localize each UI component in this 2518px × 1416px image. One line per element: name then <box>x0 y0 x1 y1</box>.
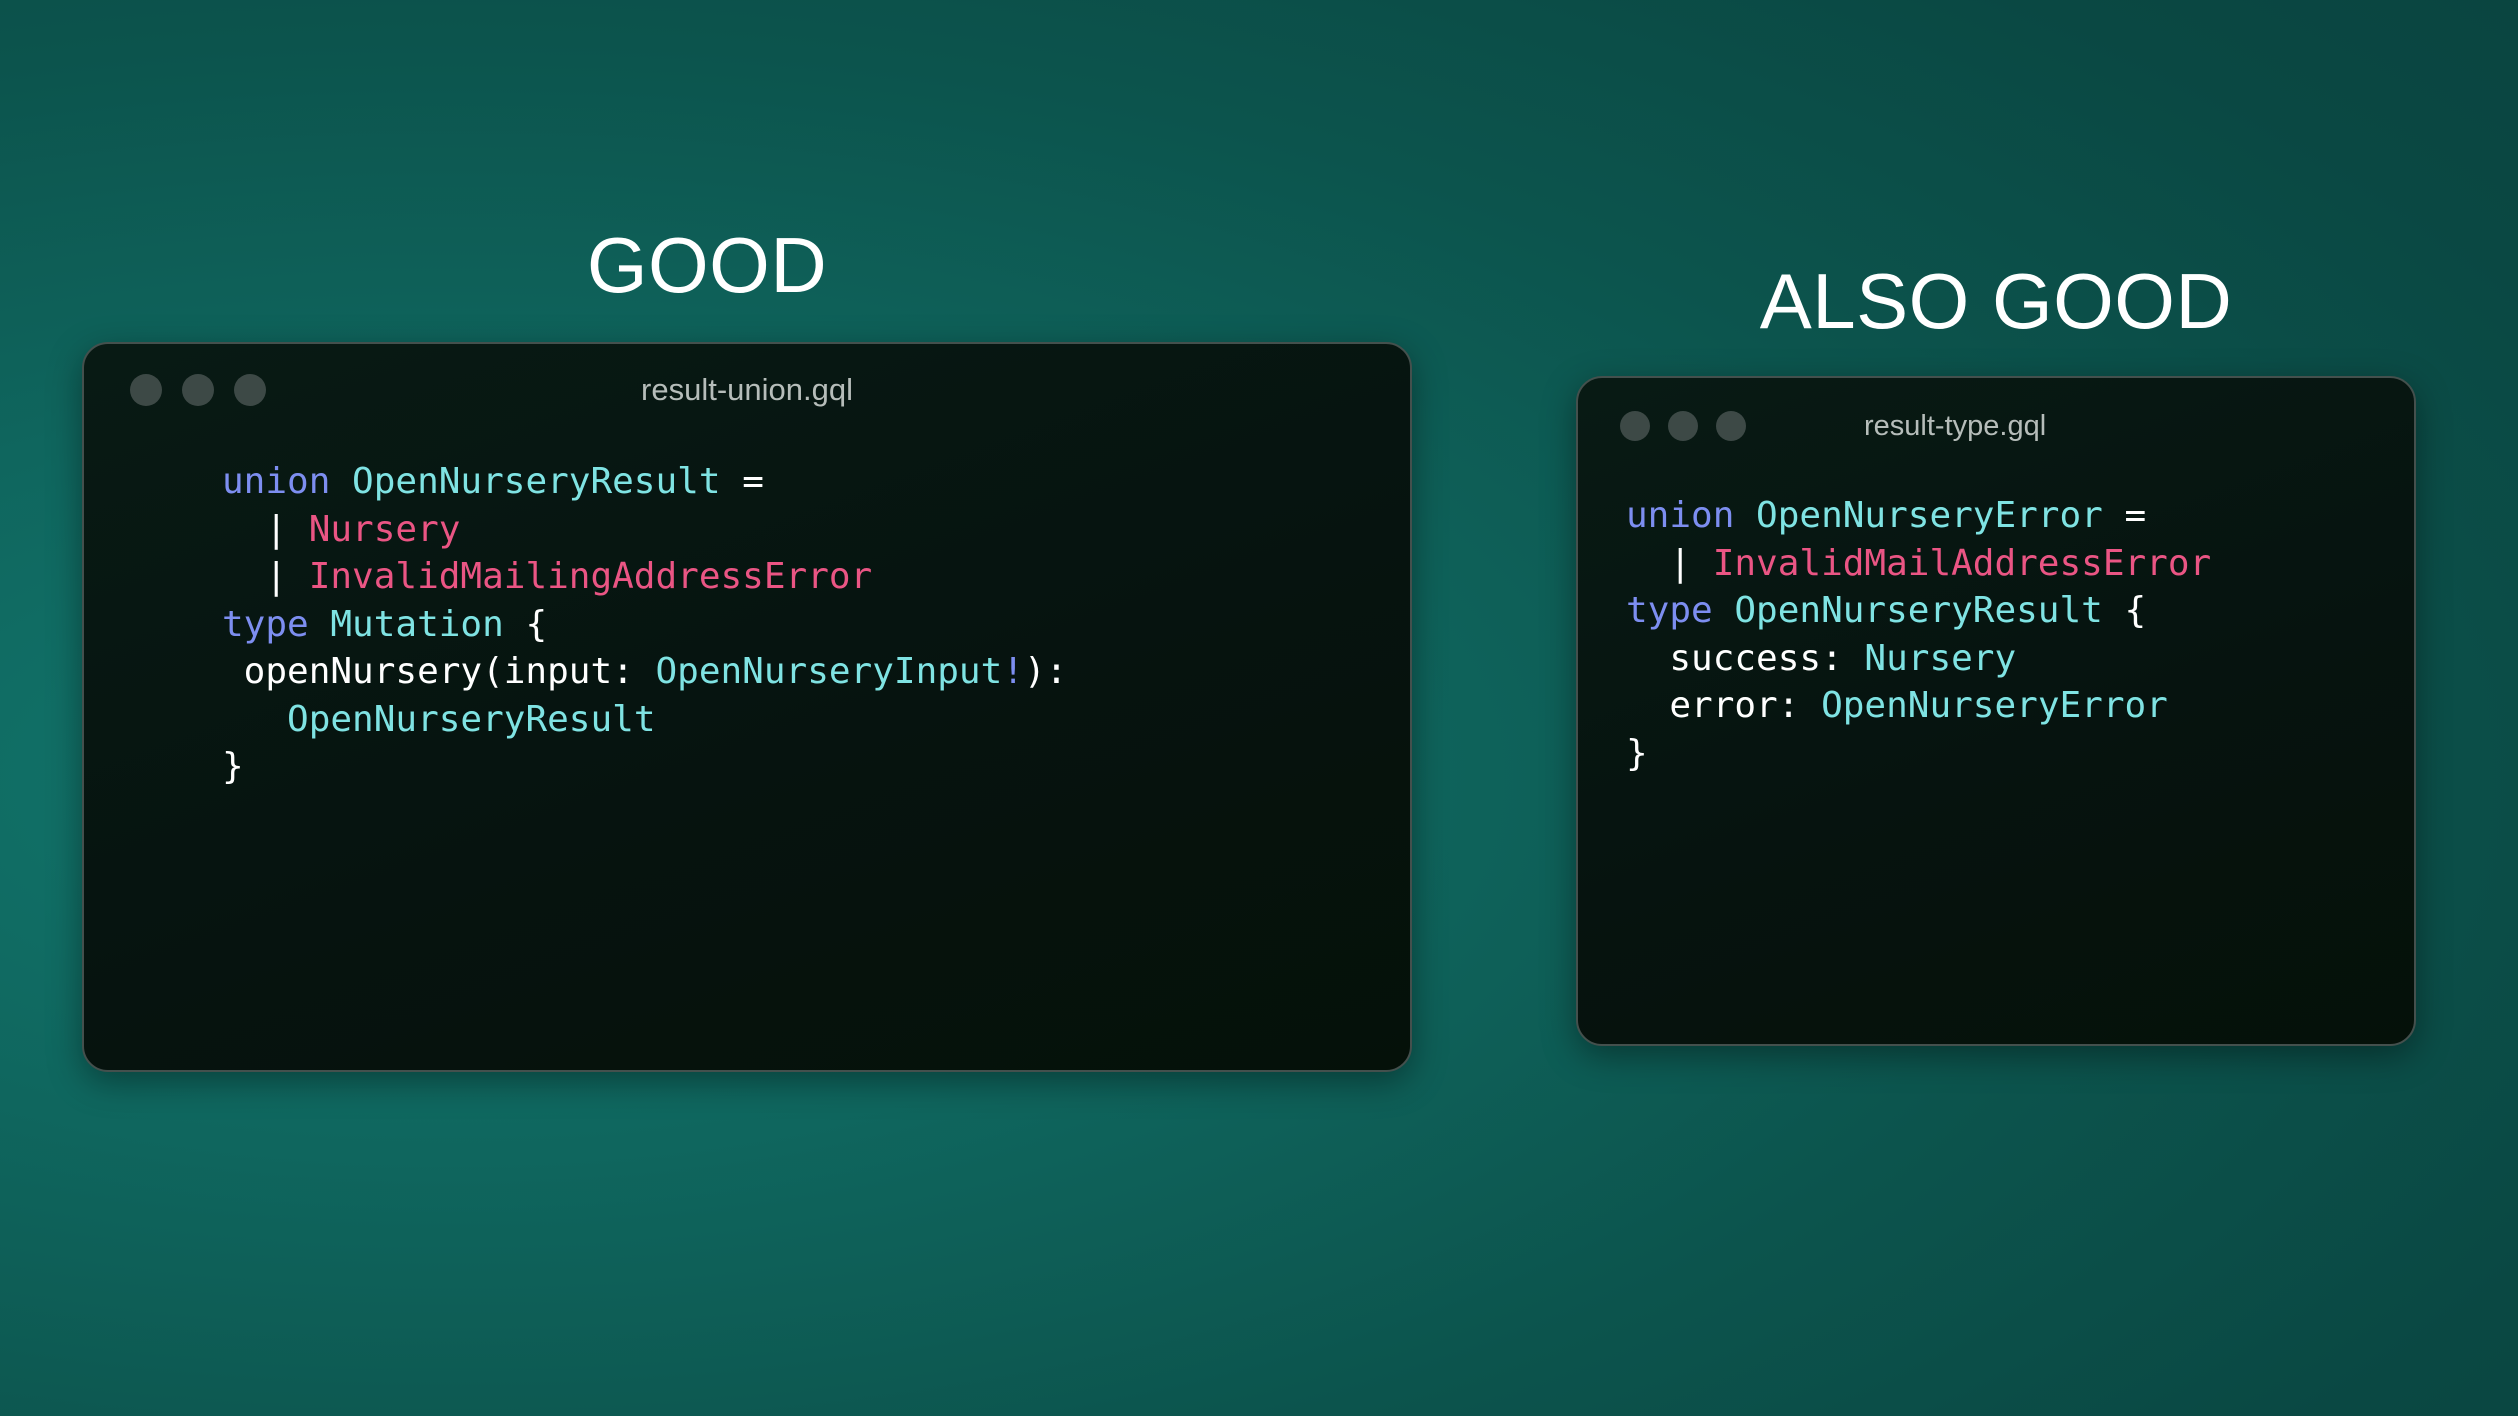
code-line: OpenNurseryResult <box>222 696 1410 744</box>
code-window-also-good-titlebar: result-type.gql <box>1578 378 2414 474</box>
code-line: union OpenNurseryResult = <box>222 458 1410 506</box>
code-token-pipe: | <box>222 509 309 550</box>
code-token-kw: type <box>222 604 330 645</box>
code-token-typ: OpenNurseryError <box>1756 495 2103 536</box>
code-token-kw: type <box>1626 590 1734 631</box>
code-token-typ: OpenNurseryInput <box>655 651 1002 692</box>
code-token-pun: = <box>721 461 764 502</box>
code-line: error: OpenNurseryError <box>1626 682 2414 730</box>
code-token-pun: ): <box>1024 651 1067 692</box>
code-window-good-titlebar: result-union.gql <box>84 344 1410 436</box>
code-window-good-filename: result-union.gql <box>84 372 1410 408</box>
traffic-lights-also-good <box>1620 411 1746 441</box>
maximize-dot-icon[interactable] <box>1716 411 1746 441</box>
code-token-typ: OpenNurseryResult <box>352 461 720 502</box>
code-token-mem: InvalidMailingAddressError <box>309 556 873 597</box>
code-token-typ: OpenNurseryResult <box>287 699 655 740</box>
code-token-pun <box>222 699 287 740</box>
code-token-pun: = <box>2103 495 2146 536</box>
minimize-dot-icon[interactable] <box>1668 411 1698 441</box>
code-token-pun: openNursery(input: <box>222 651 655 692</box>
code-token-typ: OpenNurseryResult <box>1734 590 2102 631</box>
code-token-pun: } <box>1626 733 1648 774</box>
code-token-pun: success: <box>1626 638 1864 679</box>
close-dot-icon[interactable] <box>1620 411 1650 441</box>
code-token-pun: { <box>504 604 547 645</box>
code-window-also-good-filename: result-type.gql <box>1864 410 2046 443</box>
code-token-typ: Mutation <box>330 604 503 645</box>
code-window-also-good: result-type.gql union OpenNurseryError =… <box>1576 376 2416 1046</box>
code-token-typ: OpenNurseryError <box>1821 685 2168 726</box>
panel-also-good-heading: ALSO GOOD <box>1576 262 2416 340</box>
slide-canvas: GOOD result-union.gql union OpenNurseryR… <box>0 0 2518 1416</box>
code-token-pipe: | <box>222 556 309 597</box>
code-line: union OpenNurseryError = <box>1626 492 2414 540</box>
panel-good-heading: GOOD <box>82 226 1332 304</box>
panel-good: GOOD result-union.gql union OpenNurseryR… <box>82 226 1412 1072</box>
code-line: success: Nursery <box>1626 635 2414 683</box>
code-token-bang: ! <box>1002 651 1024 692</box>
code-line: | Nursery <box>222 506 1410 554</box>
code-line: type OpenNurseryResult { <box>1626 587 2414 635</box>
code-token-pun: { <box>2103 590 2146 631</box>
code-line: | InvalidMailingAddressError <box>222 553 1410 601</box>
code-line: } <box>1626 730 2414 778</box>
code-line: type Mutation { <box>222 601 1410 649</box>
code-token-kw: union <box>1626 495 1756 536</box>
panel-also-good: ALSO GOOD result-type.gql union OpenNurs… <box>1576 262 2416 1046</box>
code-token-kw: union <box>222 461 352 502</box>
code-window-good: result-union.gql union OpenNurseryResult… <box>82 342 1412 1072</box>
code-token-pipe: | <box>1626 543 1713 584</box>
code-token-pun: } <box>222 746 244 787</box>
code-token-pun: error: <box>1626 685 1821 726</box>
code-line: } <box>222 743 1410 791</box>
code-block-good: union OpenNurseryResult = | Nursery | In… <box>84 436 1410 791</box>
code-block-also-good: union OpenNurseryError = | InvalidMailAd… <box>1578 474 2414 777</box>
code-token-typ: Nursery <box>1864 638 2016 679</box>
code-token-mem: InvalidMailAddressError <box>1713 543 2212 584</box>
code-token-mem: Nursery <box>309 509 461 550</box>
code-line: openNursery(input: OpenNurseryInput!): <box>222 648 1410 696</box>
code-line: | InvalidMailAddressError <box>1626 540 2414 588</box>
